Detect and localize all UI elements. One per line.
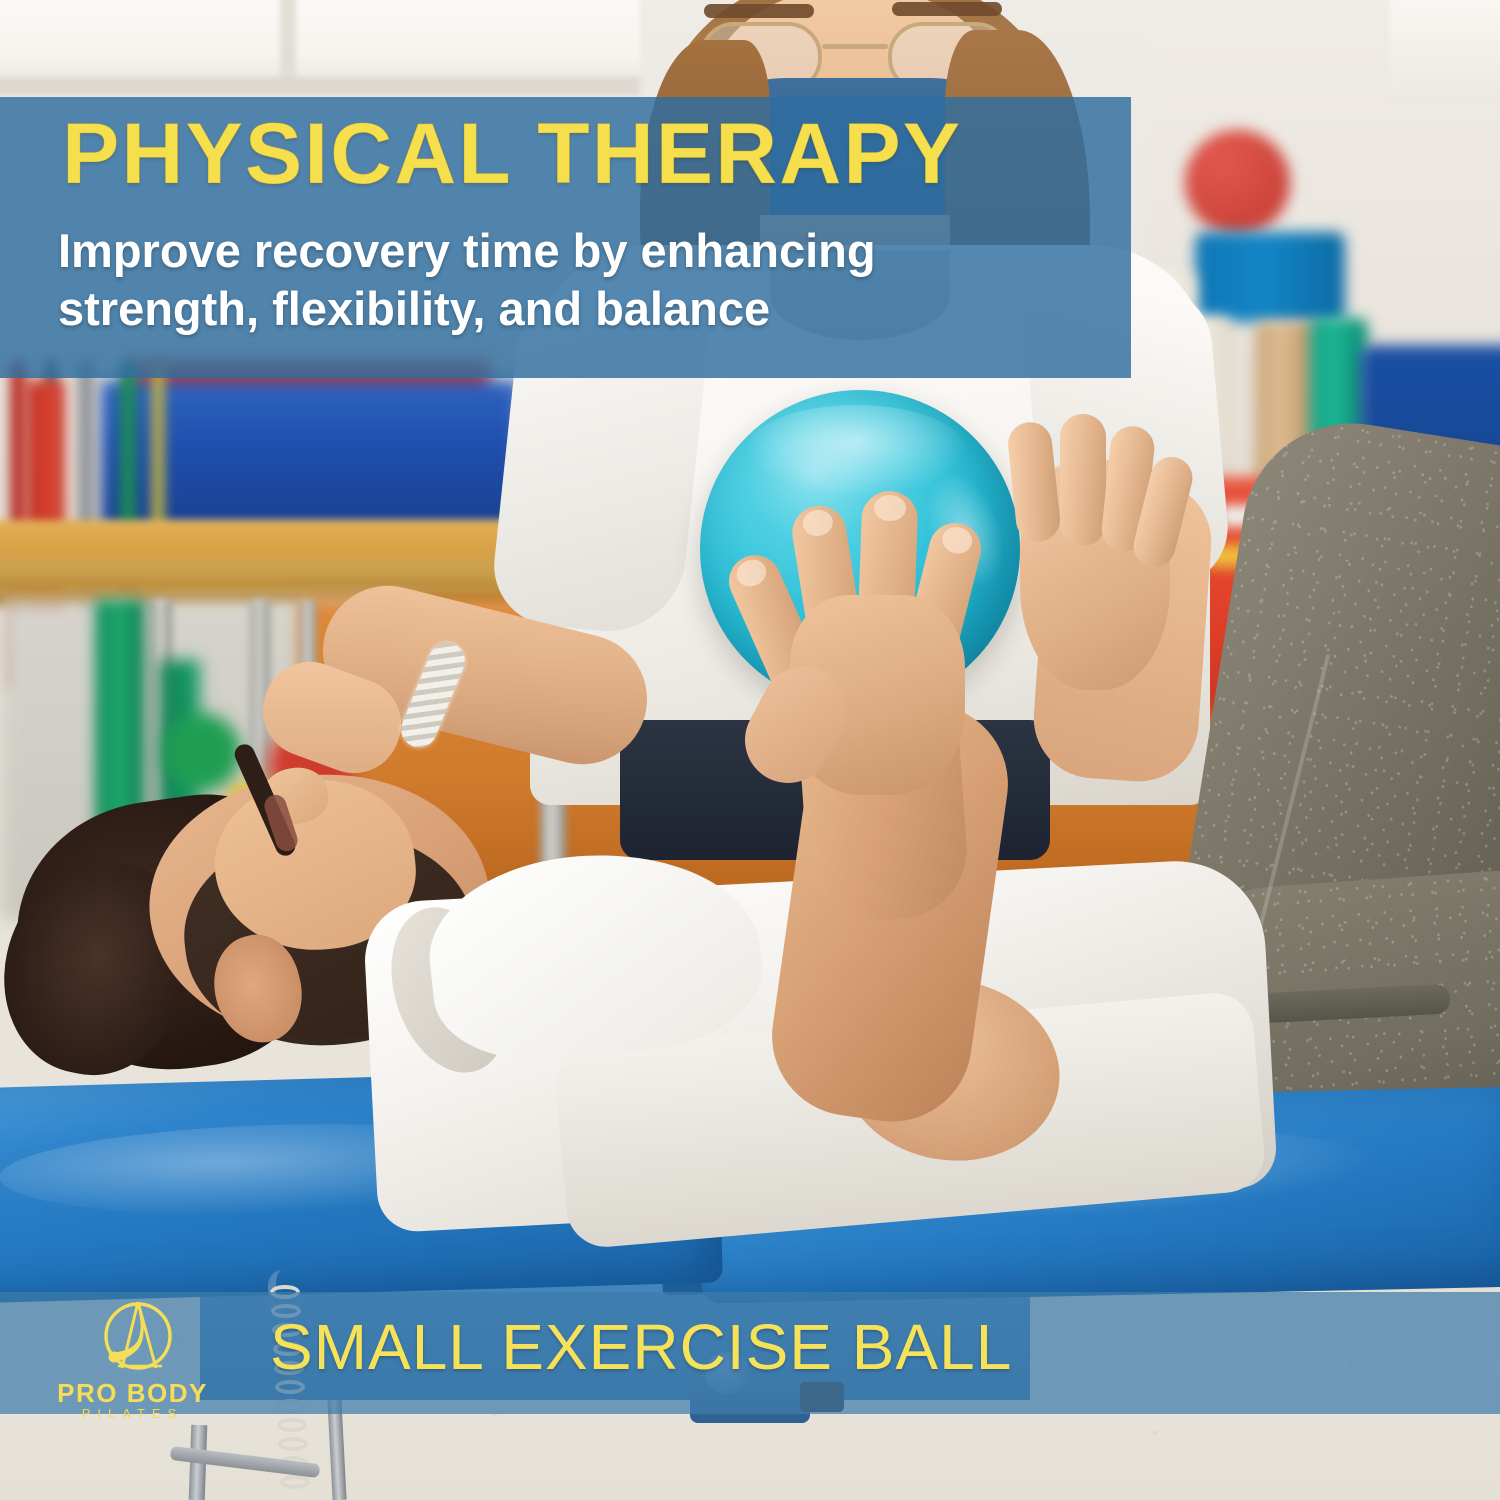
brand-logo: PRO BODY PILATES	[40, 1296, 225, 1414]
brand-tagline: PILATES	[40, 1406, 225, 1421]
banner-subtitle: Improve recovery time by enhancing stren…	[58, 222, 1068, 339]
eyebrow-right	[892, 2, 1002, 16]
eyebrow-left	[704, 4, 814, 18]
finger	[1060, 414, 1106, 546]
product-name-label: SMALL EXERCISE BALL	[270, 1310, 1250, 1384]
blue-cylinder-prop	[1195, 232, 1345, 322]
cable-coil	[280, 1475, 310, 1489]
cable-coil	[277, 1418, 307, 1432]
red-ball-prop	[1185, 130, 1290, 235]
banner-subtitle-line-1: Improve recovery time by enhancing	[58, 222, 1068, 280]
window	[0, 0, 640, 95]
cable-coil	[278, 1437, 308, 1451]
banner-title: PHYSICAL THERAPY	[62, 111, 962, 197]
finger	[1006, 420, 1062, 544]
brand-name: PRO BODY	[40, 1378, 225, 1409]
product-image: PHYSICAL THERAPY Improve recovery time b…	[0, 0, 1500, 1500]
patient-hand-on-ball	[735, 455, 1005, 785]
headline-banner: PHYSICAL THERAPY Improve recovery time b…	[0, 97, 1131, 378]
window-right	[1390, 0, 1500, 100]
pilates-figure-circle-icon	[92, 1298, 184, 1378]
banner-subtitle-line-2: strength, flexibility, and balance	[58, 280, 1068, 338]
glasses-bridge	[822, 44, 888, 49]
window-sill	[0, 77, 640, 95]
